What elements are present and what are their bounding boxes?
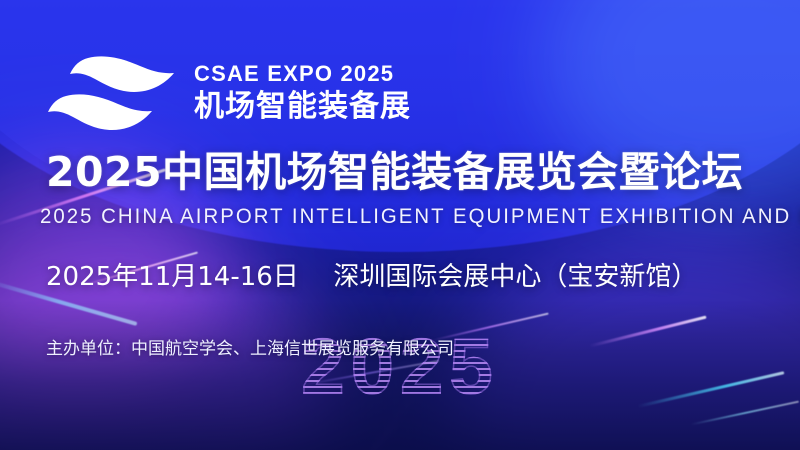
event-poster: 2025 CSAE EXPO 2025 机场智能装备展 2025中国机场智能装备…	[0, 0, 800, 450]
organizer-line: 主办单位：中国航空学会、上海信世展览服务有限公司	[46, 339, 454, 359]
csae-wing-bird-logo-icon	[48, 52, 180, 134]
event-venue: 深圳国际会展中心（宝安新馆）	[333, 262, 697, 292]
date-and-venue-line: 2025年11月14-16日 深圳国际会展中心（宝安新馆）	[46, 262, 697, 293]
poster-content: CSAE EXPO 2025 机场智能装备展 2025中国机场智能装备展览会暨论…	[0, 0, 800, 450]
poster-title-english: 2025 CHINA AIRPORT INTELLIGENT EQUIPMENT…	[40, 205, 800, 228]
logo-lockup: CSAE EXPO 2025 机场智能装备展	[48, 52, 411, 134]
logo-chinese-name: 机场智能装备展	[194, 91, 411, 123]
event-date: 2025年11月14-16日	[46, 262, 299, 292]
poster-title-chinese: 2025中国机场智能装备展览会暨论坛	[46, 150, 743, 195]
logo-text-block: CSAE EXPO 2025 机场智能装备展	[194, 63, 411, 123]
logo-english-name: CSAE EXPO 2025	[194, 63, 411, 85]
